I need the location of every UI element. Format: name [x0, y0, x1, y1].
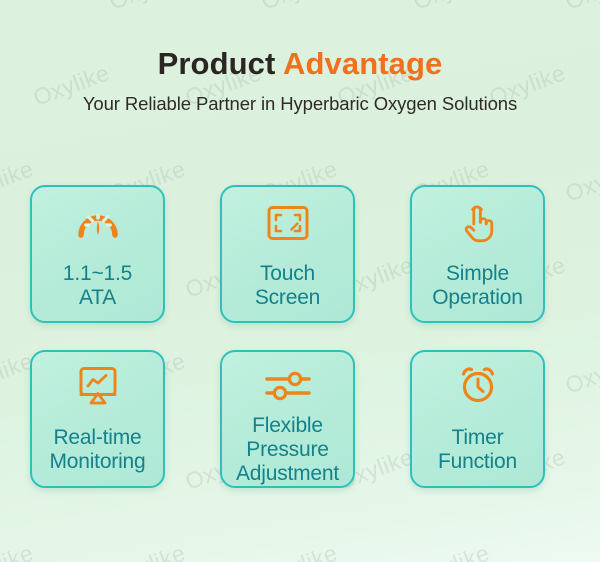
- watermark-text: Oxylike: [562, 155, 600, 207]
- sliders-icon: [263, 364, 313, 408]
- gauge-icon: [77, 201, 119, 245]
- page-title-main: Product: [158, 46, 283, 81]
- advantage-cards-grid: 1.1~1.5 ATA Touch Screen: [30, 185, 555, 488]
- advantage-card-touch-screen[interactable]: Touch Screen: [220, 185, 355, 323]
- product-advantage-page: OxylikeOxylikeOxylikeOxylikeOxylikeOxyli…: [0, 0, 600, 562]
- monitor-chart-icon: [77, 364, 119, 408]
- tap-hand-icon: [460, 201, 496, 245]
- header: Product Advantage Your Reliable Partner …: [0, 0, 600, 115]
- advantage-card-label: Touch Screen: [251, 251, 324, 321]
- page-subtitle: Your Reliable Partner in Hyperbaric Oxyg…: [0, 93, 600, 115]
- alarm-clock-icon: [457, 364, 499, 408]
- watermark-text: Oxylike: [410, 539, 493, 562]
- advantage-card-label: Flexible Pressure Adjustment: [232, 414, 343, 486]
- advantage-card-label: Real-time Monitoring: [45, 414, 149, 486]
- watermark-text: Oxylike: [562, 347, 600, 399]
- advantage-card-real-time-monitoring[interactable]: Real-time Monitoring: [30, 350, 165, 488]
- watermark-text: Oxylike: [562, 539, 600, 562]
- advantage-card-label: Simple Operation: [428, 251, 526, 321]
- advantage-card-timer-function[interactable]: Timer Function: [410, 350, 545, 488]
- page-title-accent: Advantage: [283, 46, 442, 81]
- watermark-text: Oxylike: [0, 539, 37, 562]
- page-title: Product Advantage: [0, 47, 600, 82]
- advantage-card-simple-operation[interactable]: Simple Operation: [410, 185, 545, 323]
- advantage-card-label: 1.1~1.5 ATA: [59, 251, 136, 321]
- advantage-card-flexible-pressure-adjustment[interactable]: Flexible Pressure Adjustment: [220, 350, 355, 488]
- advantage-card-pressure-range[interactable]: 1.1~1.5 ATA: [30, 185, 165, 323]
- watermark-text: Oxylike: [106, 539, 189, 562]
- advantage-card-label: Timer Function: [434, 414, 521, 486]
- touchscreen-icon: [266, 201, 310, 245]
- watermark-text: Oxylike: [258, 539, 341, 562]
